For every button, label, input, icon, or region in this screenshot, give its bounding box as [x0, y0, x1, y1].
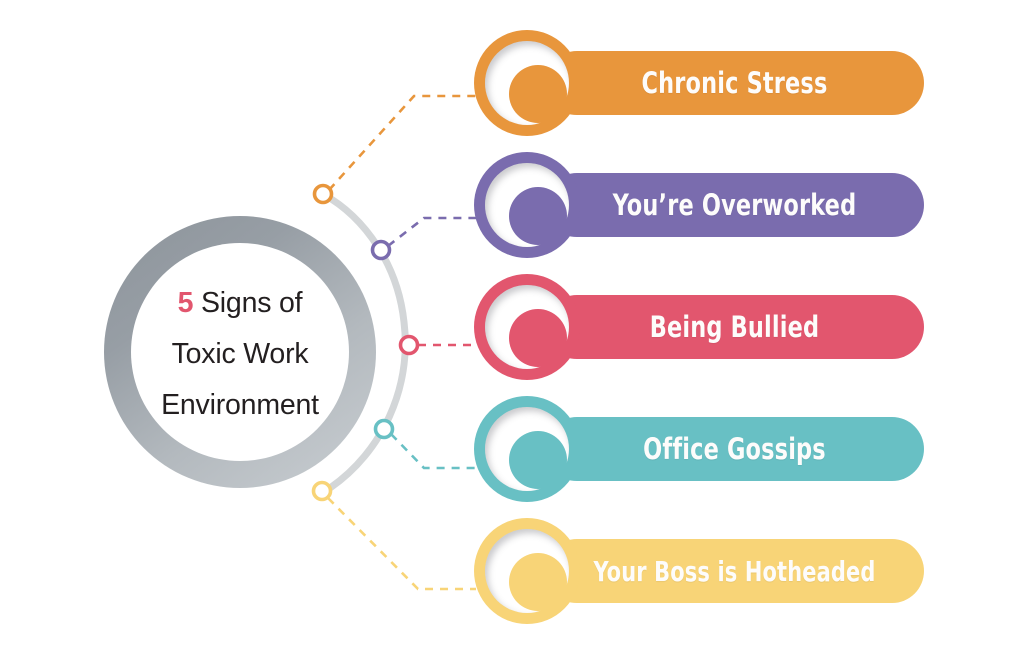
node-ring-being-bullied[interactable] [401, 337, 418, 354]
item-badge-circle[interactable] [474, 152, 580, 258]
hub-title-line2: Toxic Work [122, 329, 358, 380]
node-ring-office-gossips[interactable] [376, 421, 393, 438]
hub-title-line1: Signs of [193, 287, 302, 319]
badge-inner-white [485, 41, 569, 125]
item-label: You’re Overworked [572, 173, 898, 237]
item-row-being-bullied[interactable]: Being Bullied [474, 274, 924, 380]
connector-line-office-gossips [391, 434, 476, 468]
badge-inner-white [485, 163, 569, 247]
infographic-canvas: 5 Signs of Toxic Work Environment Chroni… [0, 0, 1024, 659]
item-label: Chronic Stress [572, 51, 898, 115]
item-badge-circle[interactable] [474, 274, 580, 380]
hub-title-number: 5 [178, 287, 194, 319]
item-badge-circle[interactable] [474, 396, 580, 502]
connector-line-youre-overworked [388, 218, 476, 246]
hub-title: 5 Signs of Toxic Work Environment [122, 278, 358, 431]
badge-inner-white [485, 285, 569, 369]
item-row-boss-hotheaded[interactable]: Your Boss is Hotheaded [474, 518, 924, 624]
badge-inner-white [485, 407, 569, 491]
badge-center-dot [509, 553, 567, 611]
item-label: Being Bullied [572, 295, 898, 359]
item-row-office-gossips[interactable]: Office Gossips [474, 396, 924, 502]
item-label: Office Gossips [572, 417, 898, 481]
badge-center-dot [509, 65, 567, 123]
central-hub: 5 Signs of Toxic Work Environment [104, 216, 376, 488]
badge-inner-white [485, 529, 569, 613]
badge-center-dot [509, 431, 567, 489]
connector-line-boss-hotheaded [328, 498, 476, 589]
connector-line-chronic-stress [329, 96, 476, 190]
badge-center-dot [509, 309, 567, 367]
badge-center-dot [509, 187, 567, 245]
hub-title-line3: Environment [122, 380, 358, 431]
item-row-youre-overworked[interactable]: You’re Overworked [474, 152, 924, 258]
item-label: Your Boss is Hotheaded [577, 539, 892, 603]
item-badge-circle[interactable] [474, 30, 580, 136]
item-row-chronic-stress[interactable]: Chronic Stress [474, 30, 924, 136]
node-ring-chronic-stress[interactable] [315, 186, 332, 203]
item-badge-circle[interactable] [474, 518, 580, 624]
